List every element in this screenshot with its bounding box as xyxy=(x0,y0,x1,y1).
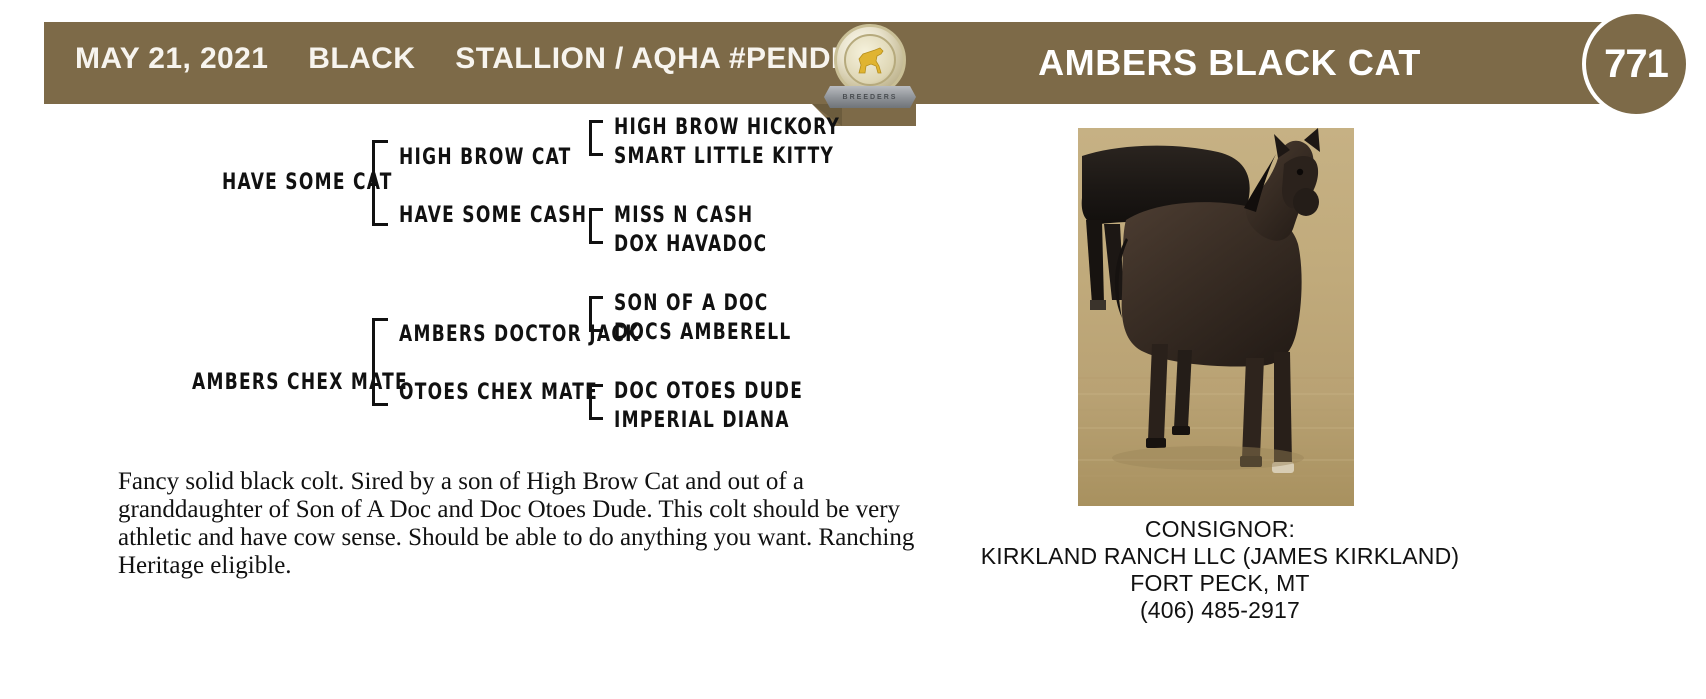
pedigree-dam-dam: OTOES CHEX MATE xyxy=(399,380,598,405)
pedigree-bracket-sire-dam xyxy=(589,208,603,244)
pedigree-sire-dam: HAVE SOME CASH xyxy=(399,203,587,228)
pedigree-bracket-sire-sire xyxy=(589,120,603,156)
consignor-block: CONSIGNOR: KIRKLAND RANCH LLC (JAMES KIR… xyxy=(940,516,1500,624)
description-text: Fancy solid black colt. Sired by a son o… xyxy=(118,468,948,580)
pedigree-dam-sire-dam: DOCS AMBERELL xyxy=(614,320,792,345)
consignor-phone: (406) 485-2917 xyxy=(940,597,1500,624)
pedigree-dam-dam-dam: IMPERIAL DIANA xyxy=(614,408,790,433)
pedigree-bracket-dam-sire xyxy=(589,296,603,332)
consignor-name: KIRKLAND RANCH LLC (JAMES KIRKLAND) xyxy=(940,543,1500,570)
lot-number: 771 xyxy=(1604,42,1668,87)
foal-photo xyxy=(1078,128,1354,506)
pedigree-sire-sire-sire: HIGH BROW HICKORY xyxy=(614,115,840,140)
pedigree-bracket-sire xyxy=(372,140,388,226)
pedigree-bracket-dam xyxy=(372,318,388,406)
pedigree-sire-dam-sire: MISS N CASH xyxy=(614,203,753,228)
pedigree-chart: HAVE SOME CAT HIGH BROW CAT HAVE SOME CA… xyxy=(0,112,980,442)
pedigree-sire-sire: HIGH BROW CAT xyxy=(399,145,572,170)
pedigree-sire-sire-dam: SMART LITTLE KITTY xyxy=(614,144,834,169)
consignor-location: FORT PECK, MT xyxy=(940,570,1500,597)
seal-banner: BREEDERS xyxy=(824,86,916,108)
lot-number-badge: 771 xyxy=(1582,10,1690,118)
foal-photo-graphic xyxy=(1078,128,1354,506)
pedigree-sire-dam-dam: DOX HAVADOC xyxy=(614,232,767,257)
page-title: AMBERS BLACK CAT xyxy=(0,42,1421,84)
pedigree-sire: HAVE SOME CAT xyxy=(222,170,393,195)
pedigree-dam-sire: AMBERS DOCTOR JACK xyxy=(399,322,640,347)
pedigree-dam-sire-sire: SON OF A DOC xyxy=(614,291,769,316)
pedigree-bracket-dam-dam xyxy=(589,384,603,420)
consignor-label: CONSIGNOR: xyxy=(940,516,1500,543)
pedigree-dam-dam-sire: DOC OTOES DUDE xyxy=(614,379,803,404)
